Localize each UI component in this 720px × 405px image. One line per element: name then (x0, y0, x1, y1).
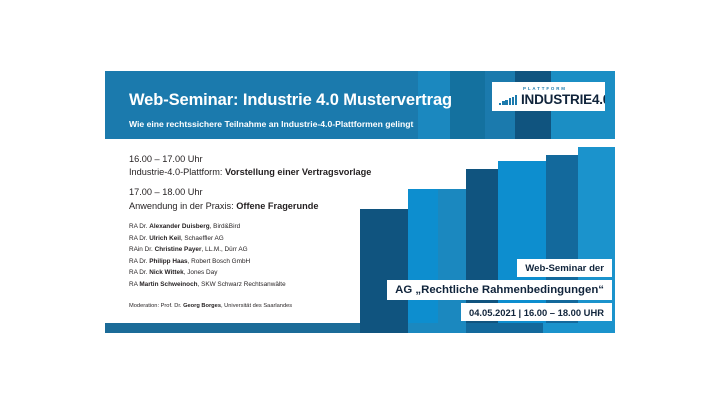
footer-segment-3 (408, 323, 466, 333)
logo-industrie-text: INDUSTRIE4.0 (521, 92, 605, 107)
agenda-topic-2-bold: Offene Fragerunde (236, 201, 318, 211)
header-text-wrap: Web-Seminar: Industrie 4.0 Mustervertrag… (129, 71, 519, 139)
plattform-industrie-40-logo: PLATTFORM INDUSTRIE4.0 (492, 82, 605, 111)
callout-ag-rechtliche-rahmenbedingungen: AG „Rechtliche Rahmenbedingungen“ (387, 280, 612, 300)
speaker-title: RA Dr. (129, 258, 149, 265)
speaker-affiliation: , Jones Day (184, 269, 218, 276)
agenda-time-1: 16.00 – 17.00 Uhr (129, 153, 429, 166)
speaker-item: RA Dr. Nick Wittek, Jones Day (129, 267, 429, 279)
agenda-topic-1-bold: Vorstellung einer Vertragsvorlage (225, 167, 371, 177)
logo-plattform-text: PLATTFORM (523, 86, 567, 91)
poster-body: 16.00 – 17.00 Uhr Industrie-4.0-Plattfor… (105, 139, 615, 333)
logo-bar-chart-icon (499, 94, 521, 105)
speaker-item: RA Dr. Ulrich Keil, Schaeffler AG (129, 233, 429, 245)
speaker-item: RA Dr. Philipp Haas, Robert Bosch GmbH (129, 256, 429, 268)
callout-date-time: 04.05.2021 | 16.00 – 18.00 UHR (461, 303, 612, 321)
speaker-title: RA Dr. (129, 269, 149, 276)
agenda-block: 16.00 – 17.00 Uhr Industrie-4.0-Plattfor… (129, 153, 429, 213)
speaker-title: RA (129, 281, 139, 288)
webinar-poster: Web-Seminar: Industrie 4.0 Mustervertrag… (105, 71, 615, 333)
speaker-affiliation: , Bird&Bird (210, 223, 241, 230)
poster-header: Web-Seminar: Industrie 4.0 Mustervertrag… (105, 71, 615, 139)
moderation-prefix: Moderation: Prof. Dr. (129, 303, 183, 309)
agenda-topic-1: Industrie-4.0-Plattform: Vorstellung ein… (129, 166, 429, 179)
speaker-name: Alexander Duisberg (149, 223, 209, 230)
speaker-name: Nick Wittek (149, 269, 183, 276)
speaker-item: RA Martin Schweinoch, SKW Schwarz Rechts… (129, 279, 429, 291)
agenda-time-2: 17.00 – 18.00 Uhr (129, 186, 429, 199)
poster-subtitle: Wie eine rechtssichere Teilnahme an Indu… (129, 119, 413, 129)
speaker-name: Ulrich Keil (149, 235, 181, 242)
speaker-title: RA Dr. (129, 235, 149, 242)
footer-segment-4 (466, 323, 543, 333)
speaker-title: RAin Dr. (129, 246, 155, 253)
speaker-item: RA Dr. Alexander Duisberg, Bird&Bird (129, 221, 429, 233)
moderation-name: Georg Borges (183, 303, 221, 309)
speaker-affiliation: , SKW Schwarz Rechtsanwälte (198, 281, 286, 288)
speaker-item: RAin Dr. Christine Payer, LL.M., Dürr AG (129, 244, 429, 256)
speaker-name: Martin Schweinoch (139, 281, 197, 288)
speaker-name: Philipp Haas (149, 258, 187, 265)
agenda-topic-2: Anwendung in der Praxis: Offene Fragerun… (129, 200, 429, 213)
speaker-name: Christine Payer (155, 246, 202, 253)
speaker-affiliation: , Schaeffler AG (181, 235, 224, 242)
agenda-topic-2-prefix: Anwendung in der Praxis: (129, 201, 236, 211)
speaker-affiliation: , Robert Bosch GmbH (188, 258, 251, 265)
footer-segment-5 (543, 323, 615, 333)
moderation-affiliation: , Universität des Saarlandes (221, 303, 292, 309)
speaker-list: RA Dr. Alexander Duisberg, Bird&Bird RA … (129, 221, 429, 291)
moderation-line: Moderation: Prof. Dr. Georg Borges, Univ… (129, 303, 292, 309)
speaker-affiliation: , LL.M., Dürr AG (201, 246, 247, 253)
poster-footer-bar (105, 323, 615, 333)
footer-segment-1 (105, 323, 360, 333)
agenda-topic-1-prefix: Industrie-4.0-Plattform: (129, 167, 225, 177)
logo-inner: PLATTFORM INDUSTRIE4.0 (499, 86, 601, 108)
poster-title: Web-Seminar: Industrie 4.0 Mustervertrag (129, 91, 452, 110)
speaker-title: RA Dr. (129, 223, 149, 230)
footer-segment-2 (360, 323, 408, 333)
callout-web-seminar-der: Web-Seminar der (517, 259, 612, 277)
